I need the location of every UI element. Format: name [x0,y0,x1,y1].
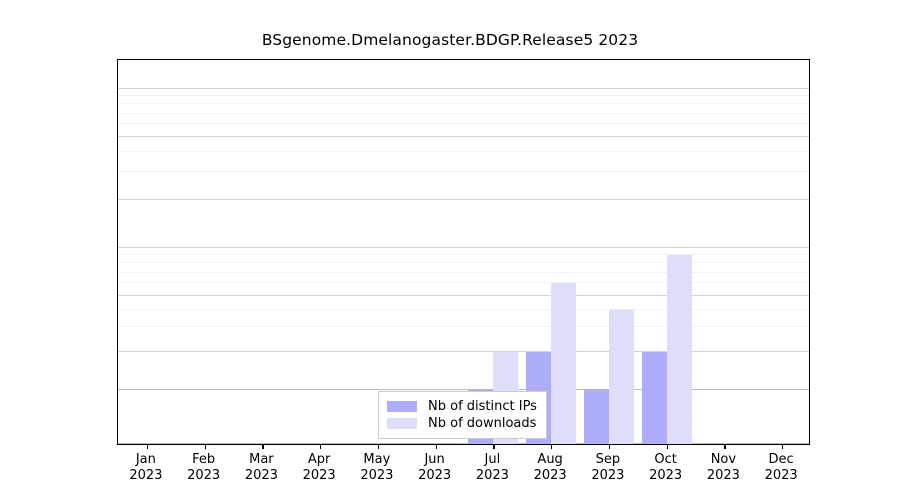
x-tick-month: Nov [711,452,736,467]
x-tick-label: Jun2023 [418,452,451,483]
gridline-major [118,136,809,137]
x-tick-label: Mar2023 [245,452,278,483]
gridline-minor [118,272,809,273]
x-tick-mark [667,444,668,449]
gridline-minor [118,254,809,255]
x-tick-mark [320,444,321,449]
gridline-major [118,351,809,352]
x-tick-month: Jun [424,452,444,467]
x-tick-mark [436,444,437,449]
x-tick-month: Jul [485,452,501,467]
gridline-minor [118,151,809,152]
x-tick-month: Oct [654,452,676,467]
bar-downloads [609,310,634,444]
gridline-one [118,389,809,390]
x-tick-month: Feb [192,452,215,467]
plot-axes: 0125102050100 [117,59,810,445]
x-tick-label: May2023 [360,452,393,483]
bar-downloads [667,255,692,444]
x-tick-mark [205,444,206,449]
gridline-minor [118,113,809,114]
plot-area [118,60,809,444]
x-tick-year: 2023 [129,468,162,484]
x-tick-year: 2023 [707,468,740,484]
x-tick-mark [147,444,148,449]
gridline-minor [118,123,809,124]
x-tick-label: Apr2023 [303,452,336,483]
x-tick-month: May [363,452,390,467]
legend-swatch [387,401,417,412]
x-tick-year: 2023 [476,468,509,484]
x-tick-month: Apr [308,452,331,467]
bar-downloads [551,283,576,444]
x-tick-year: 2023 [418,468,451,484]
x-tick-year: 2023 [360,468,393,484]
x-tick-label: Dec2023 [765,452,798,483]
gridline-minor [118,309,809,310]
x-tick-year: 2023 [245,468,278,484]
gridline-major [118,247,809,248]
x-tick-label: Nov2023 [707,452,740,483]
bar-distinct-ips [584,390,609,444]
x-tick-year: 2023 [303,468,336,484]
legend-swatch [387,418,417,429]
gridline-minor [118,95,809,96]
x-tick-year: 2023 [765,468,798,484]
gridline-major [118,88,809,89]
x-tick-label: Jan2023 [129,452,162,483]
x-tick-year: 2023 [649,468,682,484]
legend-label: Nb of downloads [428,415,536,432]
x-tick-month: Dec [769,452,794,467]
gridline-major [118,295,809,296]
x-tick-mark [262,444,263,449]
x-tick-mark [609,444,610,449]
bar-distinct-ips [642,352,667,444]
gridline-minor [118,262,809,263]
x-tick-year: 2023 [534,468,567,484]
x-tick-month: Jan [136,452,156,467]
legend-item: Nb of downloads [387,415,537,432]
gridline-minor [118,282,809,283]
gridline-minor [118,326,809,327]
x-tick-mark [724,444,725,449]
legend-label: Nb of distinct IPs [428,398,537,415]
x-tick-label: Sep2023 [591,452,624,483]
gridline-minor [118,171,809,172]
x-tick-label: Jul2023 [476,452,509,483]
x-tick-label: Feb2023 [187,452,220,483]
legend-item: Nb of distinct IPs [387,398,537,415]
x-tick-mark [551,444,552,449]
x-tick-month: Mar [249,452,274,467]
x-tick-month: Aug [537,452,562,467]
chart-legend: Nb of distinct IPsNb of downloads [378,391,547,439]
chart-figure: BSgenome.Dmelanogaster.BDGP.Release5 202… [0,0,900,500]
chart-title: BSgenome.Dmelanogaster.BDGP.Release5 202… [0,31,900,49]
x-tick-mark [378,444,379,449]
x-tick-mark [782,444,783,449]
gridline-major [118,443,809,444]
gridline-major [118,199,809,200]
gridline-minor [118,103,809,104]
x-tick-month: Sep [596,452,621,467]
x-tick-label: Oct2023 [649,452,682,483]
x-tick-label: Aug2023 [534,452,567,483]
x-tick-year: 2023 [187,468,220,484]
x-tick-year: 2023 [591,468,624,484]
x-tick-mark [493,444,494,449]
